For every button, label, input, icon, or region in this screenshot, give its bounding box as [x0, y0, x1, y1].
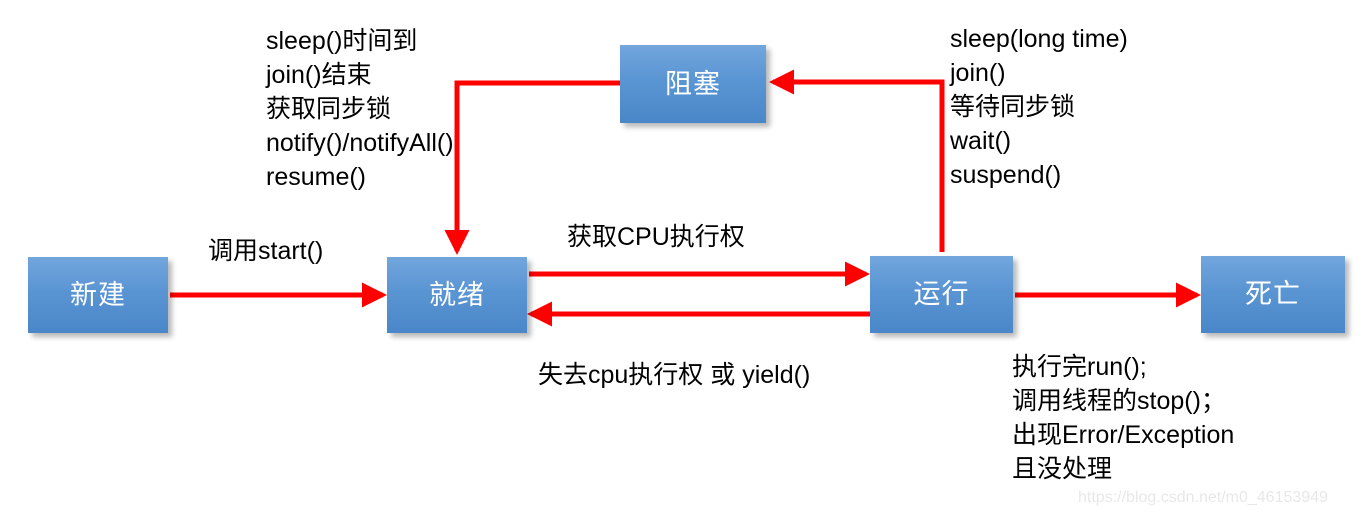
state-box-new[interactable]: 新建: [28, 257, 168, 333]
state-box-ready[interactable]: 就绪: [387, 257, 527, 333]
transition-label-running-to-dead: 执行完run(); 调用线程的stop()； 出现Error/Exception…: [1012, 350, 1234, 486]
state-label-dead: 死亡: [1245, 281, 1301, 308]
transition-label-running-to-blocked: sleep(long time) join() 等待同步锁 wait() sus…: [950, 22, 1128, 192]
state-label-blocked: 阻塞: [665, 71, 721, 98]
transition-label-new-to-ready: 调用start(): [208, 234, 323, 268]
state-label-new: 新建: [70, 282, 126, 309]
arrow-running-to-blocked: [773, 82, 942, 252]
thread-state-diagram: 新建 就绪 阻塞 运行 死亡 sleep()时间到 join()结束 获取同步锁…: [0, 0, 1360, 516]
state-box-blocked[interactable]: 阻塞: [620, 45, 766, 123]
state-label-ready: 就绪: [429, 282, 485, 309]
transition-label-running-to-ready: 失去cpu执行权 或 yield(): [538, 358, 810, 392]
watermark: https://blog.csdn.net/m0_46153949: [1078, 489, 1328, 507]
transition-label-blocked-to-ready: sleep()时间到 join()结束 获取同步锁 notify()/notif…: [266, 24, 454, 194]
state-box-running[interactable]: 运行: [870, 256, 1013, 333]
state-label-running: 运行: [914, 281, 970, 308]
transition-label-ready-to-running: 获取CPU执行权: [567, 220, 745, 254]
state-box-dead[interactable]: 死亡: [1201, 256, 1345, 333]
